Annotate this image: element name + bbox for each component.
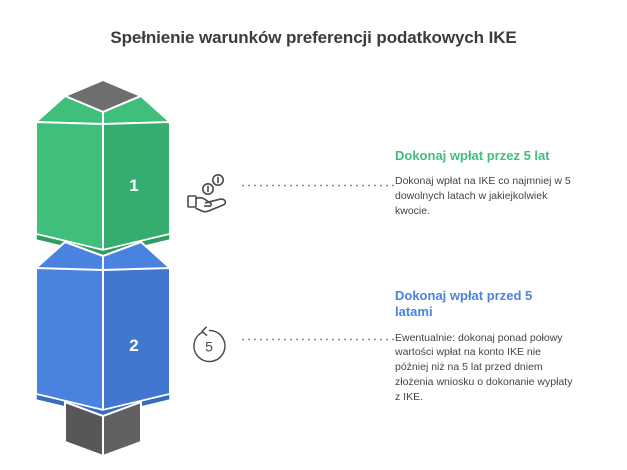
connector-dots-2 bbox=[240, 288, 395, 341]
stack-block-green bbox=[36, 96, 170, 256]
step-row-1: Dokonaj wpłat przez 5 lat Dokonaj wpłat … bbox=[178, 148, 618, 219]
rewind-icon-number: 5 bbox=[205, 339, 213, 355]
page-title: Spełnienie warunków preferencji podatkow… bbox=[0, 28, 627, 48]
step-text-2: Dokonaj wpłat przed 5 latami Ewentualnie… bbox=[395, 288, 573, 405]
hand-with-coins-icon bbox=[178, 148, 240, 214]
block-number-1: 1 bbox=[121, 176, 147, 196]
step-heading-2: Dokonaj wpłat przed 5 latami bbox=[395, 288, 573, 321]
step-text-1: Dokonaj wpłat przez 5 lat Dokonaj wpłat … bbox=[395, 148, 573, 219]
step-heading-1: Dokonaj wpłat przez 5 lat bbox=[395, 148, 573, 164]
block-number-2: 2 bbox=[121, 336, 147, 356]
step-body-1: Dokonaj wpłat na IKE co najmniej w 5 dow… bbox=[395, 174, 573, 219]
step-row-2: 5 Dokonaj wpłat przed 5 latami Ewentualn… bbox=[178, 288, 618, 405]
step-body-2: Ewentualnie: dokonaj ponad połowy wartoś… bbox=[395, 331, 573, 406]
stack-block-blue bbox=[36, 242, 170, 416]
connector-dots-1 bbox=[240, 148, 395, 187]
rewind-five-years-icon: 5 bbox=[178, 288, 240, 366]
isometric-block-stack bbox=[28, 74, 178, 464]
